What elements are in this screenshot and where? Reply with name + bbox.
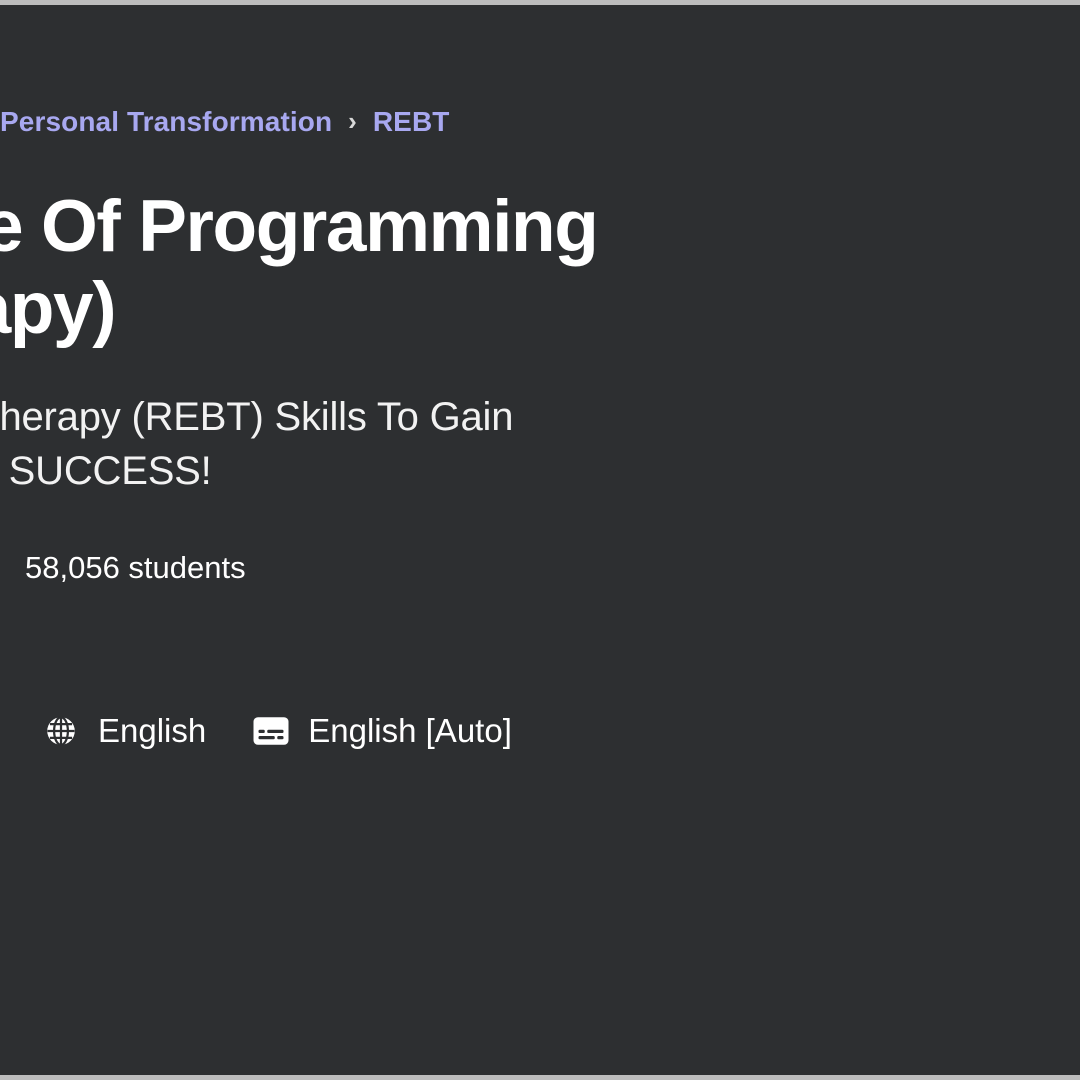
breadcrumb-item-personal-transformation[interactable]: Personal Transformation <box>0 106 332 138</box>
breadcrumb: Personal Transformation › REBT <box>0 100 1080 144</box>
course-language: English <box>42 712 206 750</box>
course-language-label: English <box>98 712 206 750</box>
students-count: 58,056 students <box>25 550 246 586</box>
course-title: Science Of Programming T Therapy) <box>0 186 1080 351</box>
course-headline-line-1: ve Behavior Therapy (REBT) Skills To Gai… <box>0 391 1080 445</box>
rating-row: ★ ★ (558 ratings) 58,056 students <box>0 550 1080 586</box>
closed-caption-icon <box>252 712 290 750</box>
globe-icon <box>42 712 80 750</box>
course-header-content: Personal Transformation › REBT Science O… <box>0 5 1080 1075</box>
course-headline-line-2: m Yourself for SUCCESS! <box>0 445 1080 499</box>
breadcrumb-item-rebt[interactable]: REBT <box>373 106 450 138</box>
course-title-line-1: Science Of Programming <box>0 186 1080 268</box>
course-header-panel: Personal Transformation › REBT Science O… <box>0 0 1080 1080</box>
instructor-row: Ed.D, Sandor Kiss <box>0 630 1080 666</box>
course-headline: ve Behavior Therapy (REBT) Skills To Gai… <box>0 391 1080 498</box>
course-captions-label: English [Auto] <box>308 712 512 750</box>
chevron-right-icon: › <box>348 108 357 134</box>
course-meta-row: English English [Auto] <box>0 712 1080 750</box>
course-captions: English [Auto] <box>252 712 512 750</box>
course-title-line-2: T Therapy) <box>0 268 1080 350</box>
